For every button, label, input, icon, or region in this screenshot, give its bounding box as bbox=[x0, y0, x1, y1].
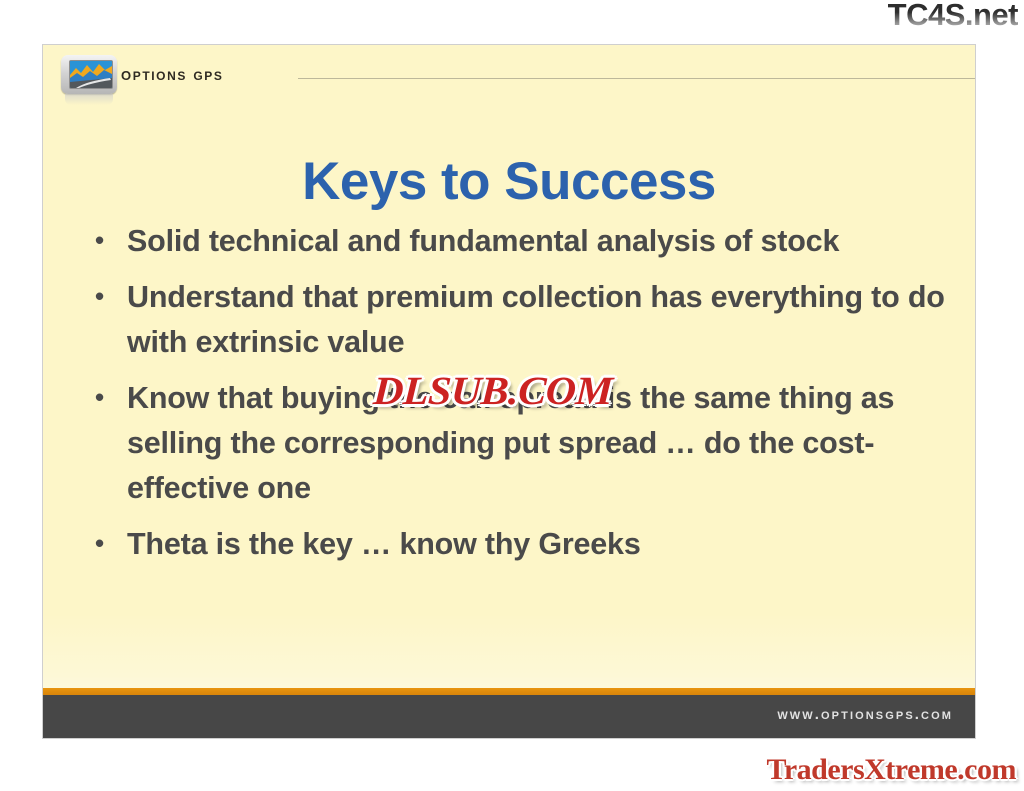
slide-title: Keys to Success bbox=[43, 151, 975, 212]
monitor-screen bbox=[69, 60, 113, 89]
bullet-item: Solid technical and fundamental analysis… bbox=[83, 219, 953, 264]
options-gps-wordmark: Options GPS bbox=[121, 64, 223, 86]
bullet-item: Know that buying the call spread is the … bbox=[83, 376, 953, 511]
slide-footer: www.OptionsGPS.com bbox=[43, 695, 975, 738]
tc4s-site-brand: TC4S.net bbox=[888, 0, 1018, 32]
monitor-reflection bbox=[65, 94, 113, 105]
bullet-item: Understand that premium collection has e… bbox=[83, 275, 953, 365]
presentation-slide: Options GPS Keys to Success Solid techni… bbox=[42, 44, 976, 739]
header-divider bbox=[298, 78, 975, 79]
footer-site-url: www.OptionsGPS.com bbox=[777, 706, 953, 723]
bullet-list: Solid technical and fundamental analysis… bbox=[83, 219, 953, 578]
bullet-item: Theta is the key … know thy Greeks bbox=[83, 522, 953, 567]
footer-accent-bar bbox=[43, 688, 975, 695]
tradersxtreme-site-brand: TradersXtreme.com bbox=[767, 753, 1016, 787]
slide-header: Options GPS bbox=[43, 45, 975, 103]
options-gps-monitor-icon bbox=[61, 55, 117, 97]
